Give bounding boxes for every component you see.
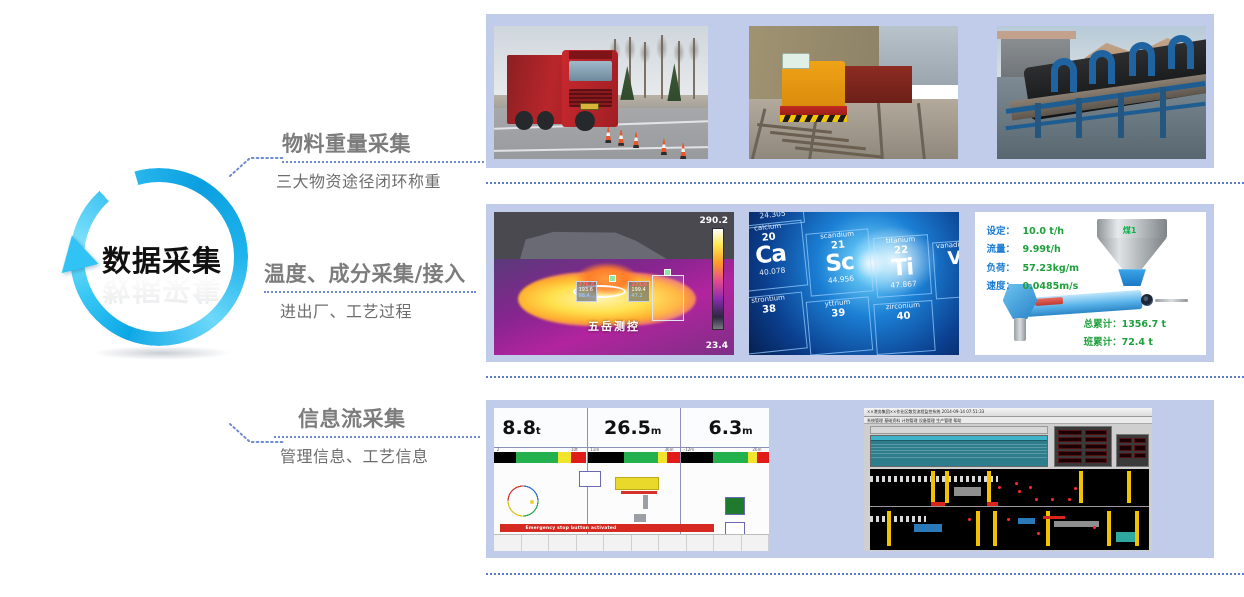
toolbar-button[interactable]: [632, 535, 660, 551]
gauge-value-load: 8.8t: [502, 417, 540, 439]
periodic-cell-vanadium: vanadium V: [932, 239, 959, 299]
boom-angle-icon: [579, 471, 601, 487]
branch-subtitle: 三大物资途径闭环称重: [268, 168, 488, 192]
periodic-cell-yttrium: yttrium 39: [806, 297, 873, 355]
periodic-cell-titanium: titanium 22 Ti 47.867: [873, 234, 932, 298]
belt-feeder-hmi: 煤1 设定：10.0 t/h 流量：9.99t/h 负荷：57.23kg/m 速…: [975, 212, 1206, 355]
thermal-imaging-screen: 276.6 193.6 88.4 273.6 199.4 47.2 五岳测控 2…: [494, 212, 734, 355]
gauge-bar-load: [494, 452, 586, 463]
thermal-watermark: 五岳测控: [494, 318, 734, 334]
branch-rule: [274, 436, 480, 438]
scada-menu-bar[interactable]: 系统管理 基础资料 计划管理 设备管理 生产管理 帮助: [864, 417, 1152, 424]
led-panel-right: [1116, 434, 1149, 467]
scada-filter-toolbar[interactable]: [870, 426, 1049, 435]
periodic-cell-scandium: scandium 21 Sc 44.956: [805, 228, 873, 296]
branch-title: 温度、成分采集/接入: [262, 258, 476, 288]
toolbar-button[interactable]: [604, 535, 632, 551]
toolbar-button[interactable]: [522, 535, 550, 551]
thermal-scale-max: 290.2: [700, 216, 728, 226]
periodic-cell-strontium: strontium 38: [749, 291, 809, 355]
toolbar-button[interactable]: [494, 535, 522, 551]
scada-overview-screen: ××港务集团××作业区散货流程监控系统 2014-09-14 07:51:33 …: [864, 408, 1152, 551]
branch-subtitle: 管理信息、工艺信息: [268, 443, 480, 467]
data-acquisition-diagram: 数据采集 数据采集 物料重量采集 三大物资途径闭环称重 温度、成分采集/接入 进…: [0, 0, 485, 597]
hmi-toolbar[interactable]: [494, 534, 769, 551]
branch-title: 信息流采集: [268, 403, 480, 433]
scada-title-bar: ××港务集团××作业区散货流程监控系统 2014-09-14 07:51:33: [864, 408, 1152, 417]
periodic-cell-calcium: calcium 20 Ca 40.078: [749, 220, 809, 293]
belt-conveyor-photo: [997, 26, 1206, 159]
gauge-value-height: 6.3m: [709, 417, 753, 439]
periodic-cell-zirconium: zirconium 40: [873, 300, 935, 355]
thermal-readout-right: 273.6 199.4 47.2: [628, 281, 650, 302]
toolbar-button[interactable]: [659, 535, 687, 551]
center-label: 数据采集: [62, 238, 262, 280]
divider-2: [486, 376, 1244, 378]
periodic-table-image: 24.305 calcium 20 Ca 40.078 scandium 21 …: [749, 212, 959, 355]
feeder-readouts: 设定：10.0 t/h 流量：9.99t/h 负荷：57.23kg/m 速度：0…: [987, 223, 1080, 295]
material-weight-row-panel: [486, 14, 1214, 168]
slide-canvas: 数据采集 数据采集 物料重量采集 三大物资途径闭环称重 温度、成分采集/接入 进…: [0, 0, 1244, 597]
gauge-bar-radius: [588, 452, 680, 463]
temperature-composition-row-panel: 276.6 193.6 88.4 273.6 199.4 47.2 五岳测控 2…: [486, 204, 1214, 362]
divider-1: [486, 182, 1244, 184]
alarm-banner: Emergency stop button activated: [500, 524, 715, 532]
branch-subtitle: 进出厂、工艺过程: [262, 298, 476, 322]
process-mimic-canvas: [870, 469, 1149, 549]
table-row[interactable]: [871, 454, 1048, 457]
led-panel-left: [1054, 426, 1112, 467]
branch-information-flow: 信息流采集 管理信息、工艺信息: [268, 403, 480, 467]
branch-material-weight: 物料重量采集 三大物资途径闭环称重: [268, 128, 488, 192]
toolbar-button[interactable]: [577, 535, 605, 551]
thermal-color-scale: [712, 228, 724, 330]
divider-3: [486, 573, 1244, 575]
branch-title: 物料重量采集: [268, 128, 488, 158]
gauge-value-radius: 26.5m: [604, 417, 661, 439]
branch-temperature-composition: 温度、成分采集/接入 进出厂、工艺过程: [262, 258, 476, 322]
branch-rule: [264, 291, 476, 293]
rail-locomotive-photo: [749, 26, 958, 159]
information-flow-row-panel: 8.8t 26.5m 6.3m 2 10t 11m 36m -12m 26m: [486, 400, 1214, 558]
thermal-readout-left: 276.6 193.6 88.4: [576, 281, 598, 302]
spreader-graphic: [615, 477, 659, 490]
truck-weighing-photo: [494, 26, 708, 159]
ring-drop-shadow: [92, 346, 232, 360]
toolbar-button[interactable]: [687, 535, 715, 551]
scada-record-table[interactable]: [870, 435, 1049, 466]
toolbar-button[interactable]: [714, 535, 742, 551]
gauge-bar-height: [681, 452, 769, 463]
toolbar-button[interactable]: [549, 535, 577, 551]
slew-compass: [500, 480, 546, 522]
branch-rule: [282, 161, 488, 163]
toolbar-button[interactable]: [742, 535, 770, 551]
thermal-low: 88.4: [579, 294, 595, 300]
ship-loader-hmi: 8.8t 26.5m 6.3m 2 10t 11m 36m -12m 26m: [494, 408, 769, 551]
circular-arrow-graphic: 数据采集 数据采集: [62, 163, 262, 373]
feeder-totals: 总累计：1356.7 t 班累计：72.4 t: [1084, 316, 1167, 352]
thermal-scale-min: 23.4: [706, 341, 728, 351]
hopper-label: 煤1: [1123, 225, 1137, 236]
hold-level-indicator: [725, 497, 745, 515]
thermal-low: 47.2: [631, 294, 647, 300]
